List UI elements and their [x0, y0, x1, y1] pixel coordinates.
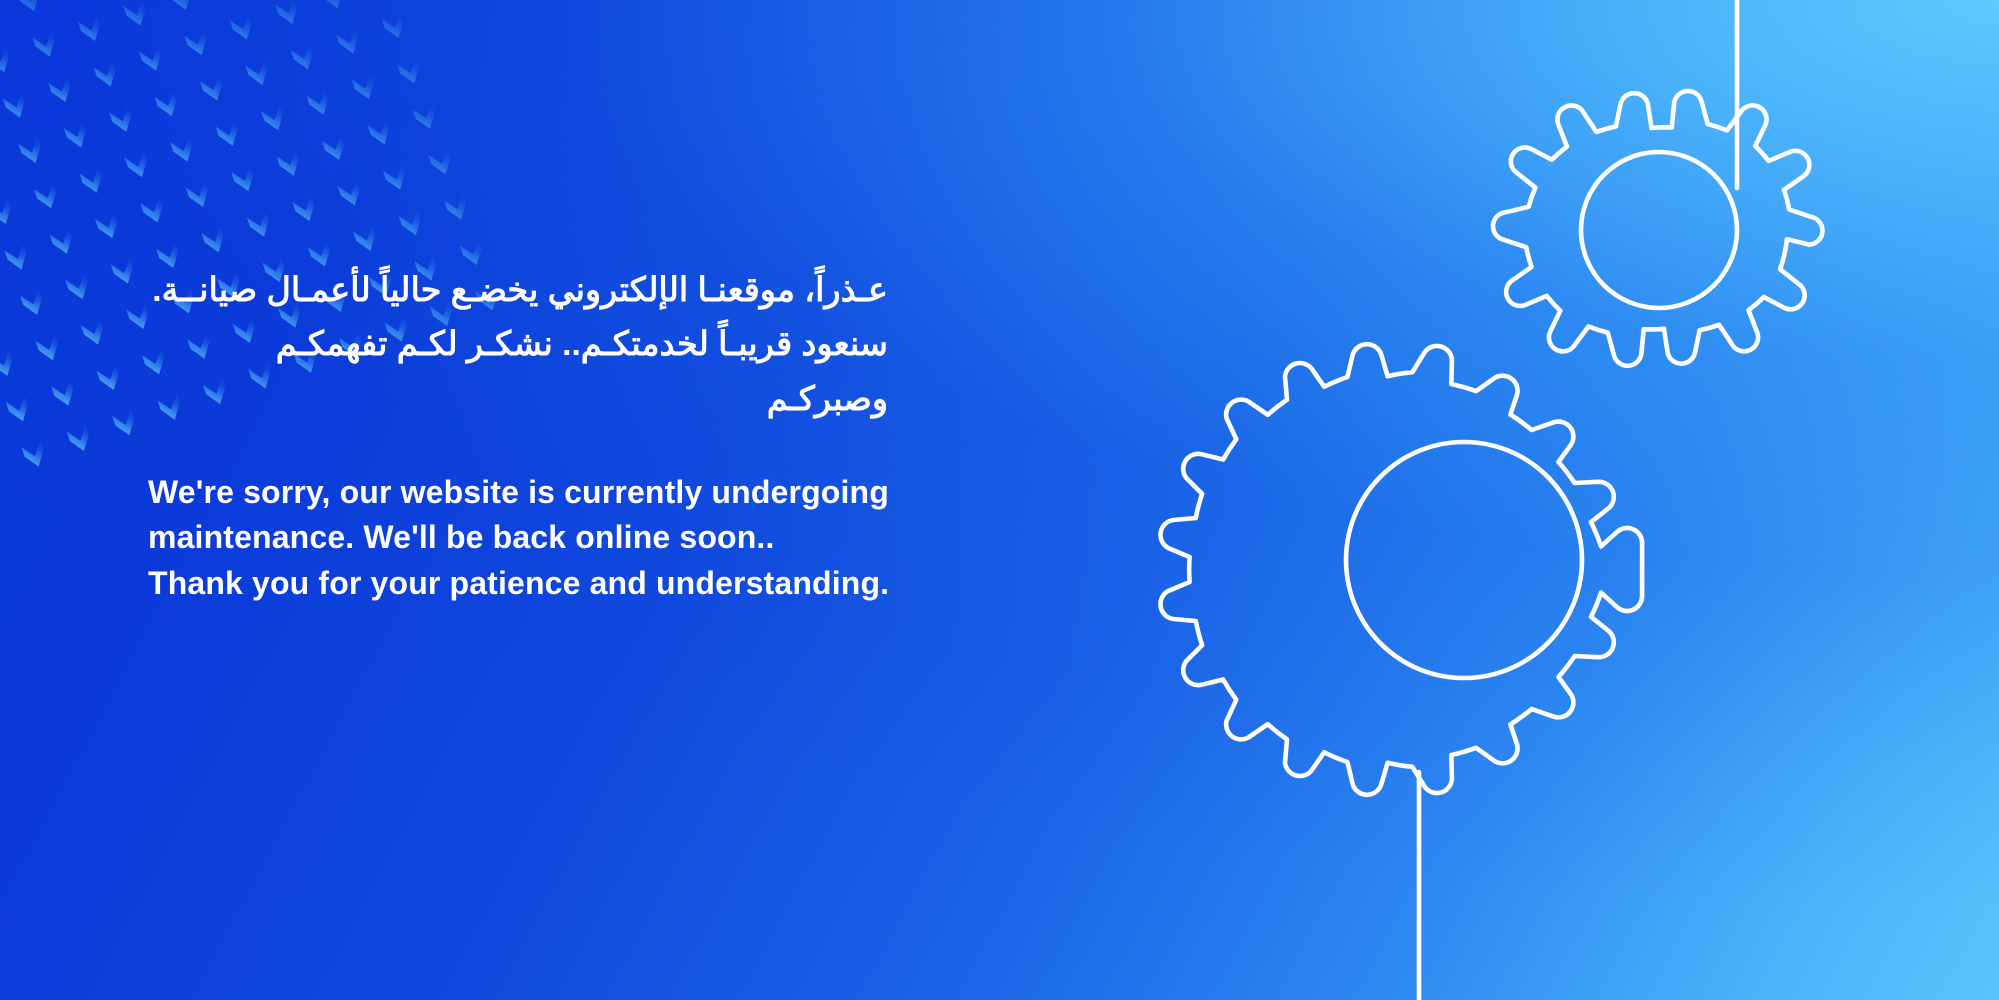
- maintenance-message-arabic: عـذراً، موقعنـا الإلكتروني يخضـع حالياً …: [148, 264, 888, 427]
- maintenance-message: عـذراً، موقعنـا الإلكتروني يخضـع حالياً …: [148, 264, 1048, 606]
- small-gear-hub: [1581, 152, 1737, 308]
- large-gear: [1160, 344, 1642, 795]
- maintenance-message-english: We're sorry, our website is currently un…: [148, 470, 1048, 606]
- maintenance-page: عـذراً، موقعنـا الإلكتروني يخضـع حالياً …: [0, 0, 1999, 1000]
- large-gear-hub: [1346, 442, 1582, 678]
- gear-illustration: [1099, 0, 1999, 1000]
- small-gear: [1493, 91, 1822, 366]
